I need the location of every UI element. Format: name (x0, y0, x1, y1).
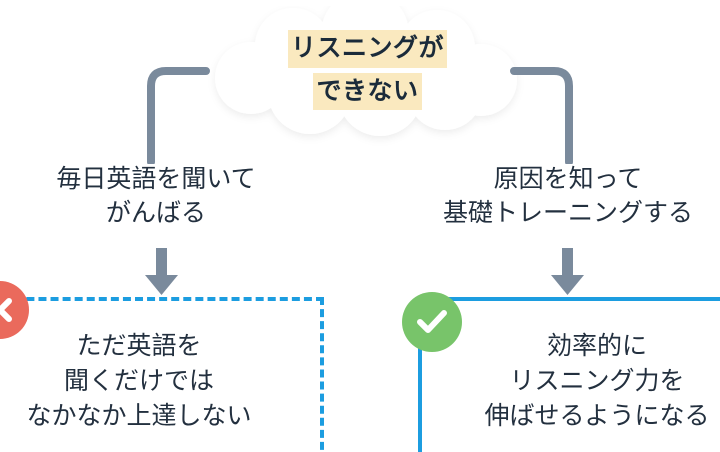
down-arrow-right-icon (546, 248, 590, 298)
branch-right-line-2: 基礎トレーニングする (398, 197, 720, 231)
outcome-right-line-1: 効率的に (426, 329, 720, 364)
title-cloud: リスニングが できない (205, 6, 530, 146)
branch-left-line-2: がんばる (0, 197, 316, 231)
branch-left-line-1: 毎日英語を聞いて (0, 163, 316, 197)
outcome-right-text: 効率的に リスニング力を 伸ばせるようになる (422, 329, 720, 434)
cloud-shape-icon (205, 6, 530, 146)
outcome-right-line-2: リスニング力を (426, 364, 720, 399)
branch-label-right: 原因を知って 基礎トレーニングする (398, 163, 720, 230)
check-badge (402, 292, 462, 352)
diagram-canvas: リスニングが できない 毎日英語を聞いて がんばる 原因を知って 基礎トレーニン… (0, 0, 720, 452)
outcome-left-line-1: ただ英語を (0, 329, 320, 364)
branch-right-line-1: 原因を知って (398, 163, 720, 197)
outcome-box-left: ただ英語を 聞くだけでは なかなか上達しない (0, 297, 324, 452)
x-mark-icon (0, 295, 15, 325)
connector-elbow-left (140, 64, 210, 164)
outcome-left-line-3: なかなか上達しない (0, 399, 320, 434)
outcome-left-text: ただ英語を 聞くだけでは なかなか上達しない (0, 329, 324, 434)
outcome-left-line-2: 聞くだけでは (0, 364, 320, 399)
down-arrow-left-icon (140, 248, 184, 298)
outcome-box-right: 効率的に リスニング力を 伸ばせるようになる (418, 297, 720, 452)
outcome-right-line-3: 伸ばせるようになる (426, 399, 720, 434)
check-mark-icon (413, 303, 451, 341)
branch-label-left: 毎日英語を聞いて がんばる (0, 163, 316, 230)
connector-elbow-right (510, 64, 580, 164)
